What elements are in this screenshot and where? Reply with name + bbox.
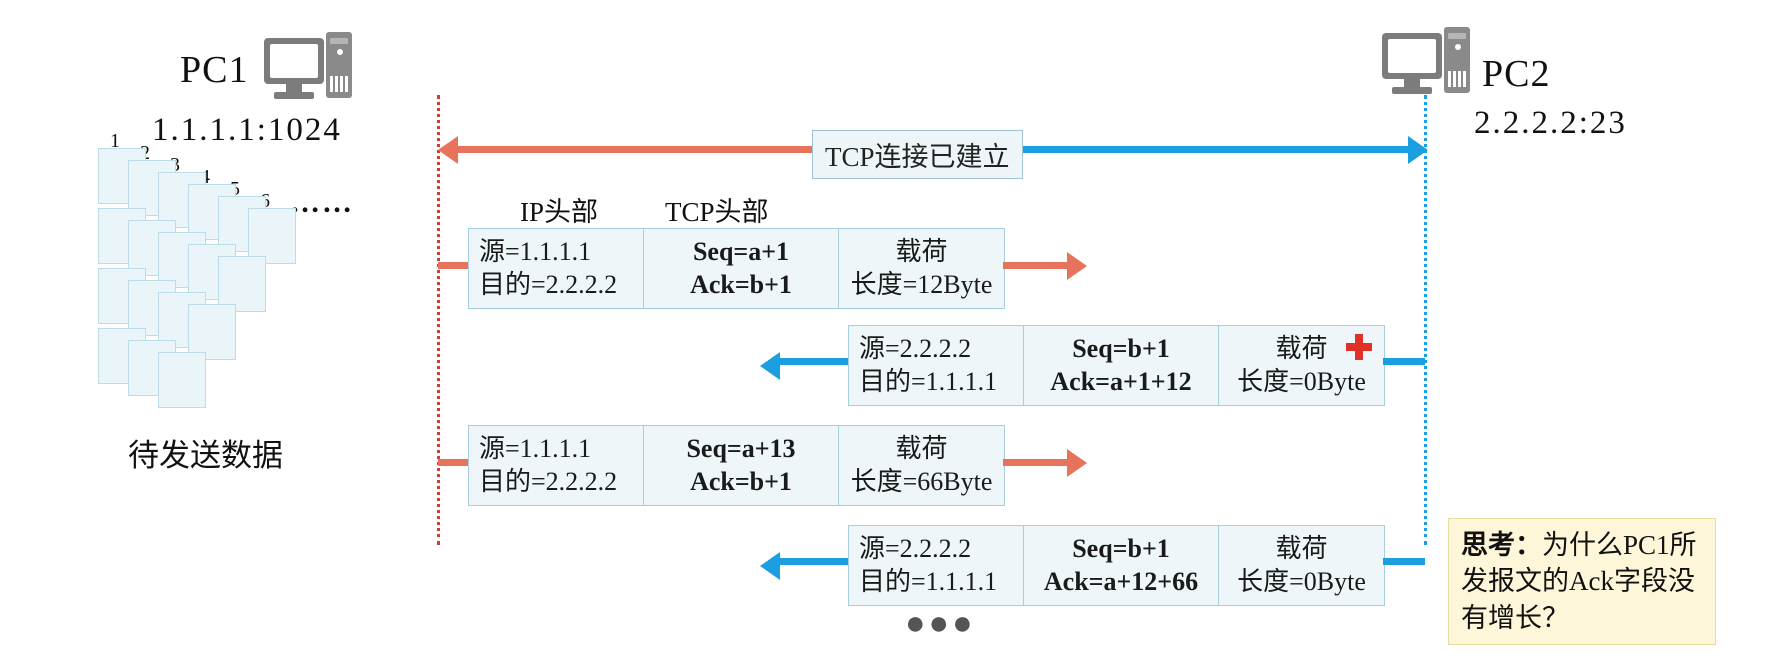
packet-ip-header: 源=2.2.2.2 目的=1.1.1.1 [849,326,1024,405]
packet-ip-src: 源=2.2.2.2 [859,532,1013,565]
packet-ip-header: 源=1.1.1.1 目的=2.2.2.2 [469,229,644,308]
packet-payload-title: 载荷 [849,432,994,465]
tcp-established-arrow-left [458,146,812,153]
packet-tcp-seq: Seq=a+13 [654,432,828,465]
packet-3-arrow [438,459,468,466]
packet-3-arrow-tail [1003,459,1067,466]
arrowhead-right-icon [1067,252,1087,280]
thinking-note: 思考：为什么PC1所发报文的Ack字段没有增长？ [1448,518,1716,645]
pending-data-stack: 1 2 3 4 5 6 …… [90,130,350,410]
packet-ip-src: 源=1.1.1.1 [479,235,633,268]
arrowhead-left-icon [760,352,780,380]
packet-ip-dst: 目的=2.2.2.2 [479,268,633,301]
packet-ip-dst: 目的=1.1.1.1 [859,365,1013,398]
packet-1-arrow-tail [1003,262,1067,269]
packet-payload: 载荷 长度=0Byte [1219,326,1384,405]
packet-row[interactable]: 源=2.2.2.2 目的=1.1.1.1 Seq=b+1 Ack=a+1+12 … [848,325,1385,406]
endpoint-pc2: PC2 2.2.2.2:23 [1380,25,1627,142]
packet-payload-length: 长度=0Byte [1229,565,1374,598]
red-cross-icon [1342,332,1376,366]
packet-payload: 载荷 长度=66Byte [839,426,1004,505]
packet-tcp-seq: Seq=b+1 [1034,532,1208,565]
packet-4-arrow [780,558,848,565]
packet-ip-dst: 目的=2.2.2.2 [479,465,633,498]
pc2-address: 2.2.2.2:23 [1474,105,1627,142]
ip-header-caption: IP头部 [520,190,598,229]
packet-tcp-ack: Ack=a+1+12 [1034,365,1208,398]
packet-row[interactable]: 源=1.1.1.1 目的=2.2.2.2 Seq=a+13 Ack=b+1 载荷… [468,425,1005,506]
packet-row[interactable]: 源=1.1.1.1 目的=2.2.2.2 Seq=a+1 Ack=b+1 载荷 … [468,228,1005,309]
packet-tcp-seq: Seq=a+1 [654,235,828,268]
packet-4-arrow-tail [1383,558,1425,565]
packet-ip-header: 源=2.2.2.2 目的=1.1.1.1 [849,526,1024,605]
packet-tcp-ack: Ack=b+1 [654,268,828,301]
packet-ip-src: 源=2.2.2.2 [859,332,1013,365]
data-block [158,352,206,408]
packet-payload: 载荷 长度=0Byte [1219,526,1384,605]
packet-tcp-ack: Ack=a+12+66 [1034,565,1208,598]
packet-ip-dst: 目的=1.1.1.1 [859,565,1013,598]
pending-data-caption: 待发送数据 [128,430,283,475]
packet-payload-length: 长度=66Byte [849,465,994,498]
pc1-name: PC1 [180,48,248,92]
packet-tcp-ack: Ack=b+1 [654,465,828,498]
packet-tcp-header: Seq=b+1 Ack=a+1+12 [1024,326,1219,405]
continuation-dots: ●●● [905,605,976,643]
packet-1-arrow [438,262,468,269]
packet-ip-header: 源=1.1.1.1 目的=2.2.2.2 [469,426,644,505]
arrowhead-left-icon [438,136,458,164]
packet-tcp-header: Seq=a+13 Ack=b+1 [644,426,839,505]
packet-tcp-seq: Seq=b+1 [1034,332,1208,365]
arrowhead-right-icon [1408,136,1428,164]
packet-ip-src: 源=1.1.1.1 [479,432,633,465]
note-prefix: 思考： [1461,530,1542,560]
packet-2-arrow [780,358,848,365]
packet-payload-title: 载荷 [849,235,994,268]
packet-tcp-header: Seq=a+1 Ack=b+1 [644,229,839,308]
arrowhead-left-icon [760,552,780,580]
packet-payload-title: 载荷 [1229,532,1374,565]
packet-payload-length: 长度=12Byte [849,268,994,301]
packet-payload-length: 长度=0Byte [1229,365,1374,398]
status-label: TCP连接已建立 [812,130,1023,179]
tcp-header-caption: TCP头部 [665,190,769,229]
arrowhead-right-icon [1067,449,1087,477]
stack-ellipsis: …… [290,186,354,220]
packet-row[interactable]: 源=2.2.2.2 目的=1.1.1.1 Seq=b+1 Ack=a+12+66… [848,525,1385,606]
packet-payload: 载荷 长度=12Byte [839,229,1004,308]
packet-tcp-header: Seq=b+1 Ack=a+12+66 [1024,526,1219,605]
computer-icon [1380,25,1472,105]
computer-icon [262,30,354,110]
packet-2-arrow-tail [1383,358,1425,365]
pc2-name: PC2 [1482,52,1550,96]
